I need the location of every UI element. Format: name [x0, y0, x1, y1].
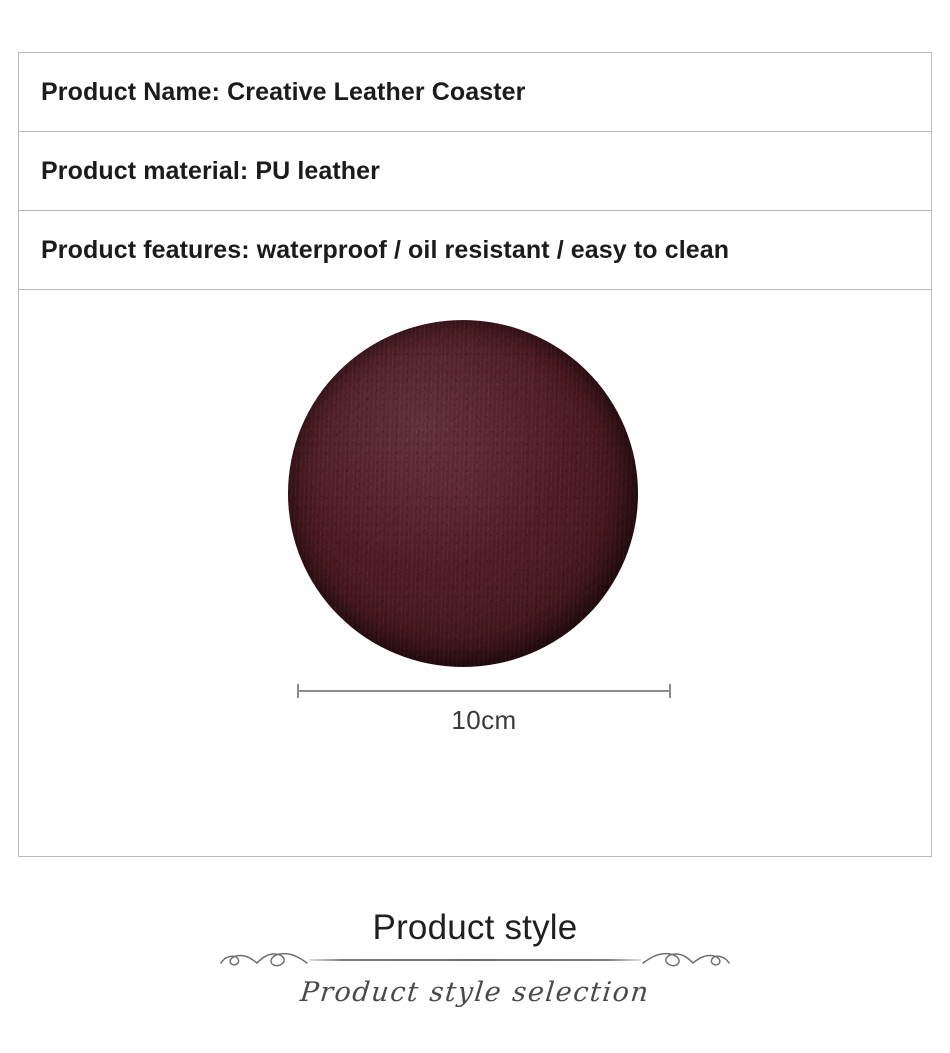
- spec-row-text: Product features: waterproof / oil resis…: [19, 236, 729, 265]
- spec-row-text: Product Name: Creative Leather Coaster: [19, 78, 526, 107]
- banner-rule: [309, 959, 641, 961]
- coaster-stitched-rim: [288, 320, 638, 667]
- flourish-swirl-icon: [641, 943, 733, 978]
- flourish-swirl-icon: [217, 943, 309, 978]
- dimension-cap-right: [669, 684, 671, 698]
- dimension-label: 10cm: [297, 705, 671, 736]
- spec-row-product-name: Product Name: Creative Leather Coaster: [19, 53, 931, 132]
- product-spec-table: Product Name: Creative Leather Coaster P…: [18, 52, 932, 857]
- spec-row-text: Product material: PU leather: [19, 157, 380, 186]
- banner-subtitle: Product style selection: [0, 977, 950, 1008]
- coaster-product-image: [288, 320, 638, 667]
- banner-divider: [0, 943, 950, 977]
- product-image-panel: 10cm: [19, 290, 931, 857]
- dimension-line-icon: [297, 684, 671, 698]
- spec-row-product-features: Product features: waterproof / oil resis…: [19, 211, 931, 290]
- spec-row-product-material: Product material: PU leather: [19, 132, 931, 211]
- dimension-bar: [297, 690, 671, 692]
- product-style-banner: Product style Product style selection: [0, 905, 950, 1030]
